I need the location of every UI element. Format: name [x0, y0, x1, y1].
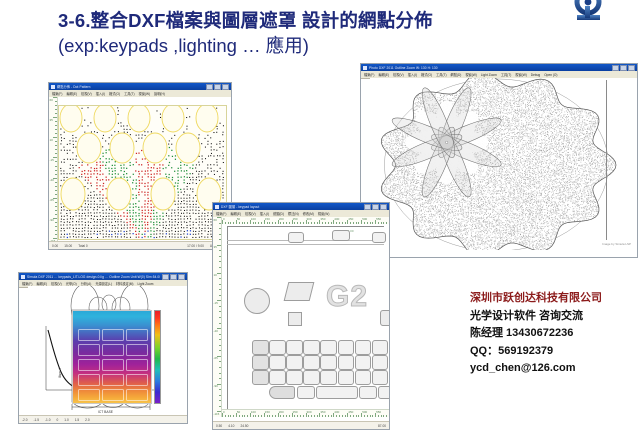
- status-field: 1.0: [64, 418, 68, 422]
- menu-item[interactable]: 插入(I): [408, 72, 417, 77]
- menu-item[interactable]: 檢視(V): [245, 211, 256, 216]
- minimize-icon[interactable]: [364, 204, 371, 210]
- keypad-key[interactable]: [320, 340, 337, 355]
- keypad-key[interactable]: [288, 232, 304, 243]
- close-icon[interactable]: [222, 84, 229, 90]
- dot-plot-canvas[interactable]: 603510-15-40-65-90-115: [49, 97, 231, 242]
- keypad-key[interactable]: [320, 355, 337, 370]
- contact-block: 深圳市跃创达科技有限公司 光学设计软件 咨询交流 陈经理 13430672236…: [470, 290, 635, 378]
- maximize-icon[interactable]: [620, 65, 627, 71]
- keypad-key[interactable]: [359, 386, 377, 399]
- window-buttons[interactable]: [612, 65, 635, 71]
- heatmap-key-outline: [78, 374, 100, 386]
- keypad-key[interactable]: [286, 355, 303, 370]
- keypad-key[interactable]: [372, 340, 389, 355]
- titlebar[interactable]: DXF 圖層 - keypad layout: [213, 203, 389, 210]
- dot-distribution-window[interactable]: 網點分佈 - Dot Pattern 檔案(F) 編輯(E) 檢視(V) 插入(…: [48, 82, 232, 250]
- keypad-key[interactable]: [378, 386, 389, 399]
- keypad-key[interactable]: [338, 340, 355, 355]
- menu-item[interactable]: 標註(N): [288, 211, 299, 216]
- status-field: -2.0: [22, 418, 28, 422]
- contact-qq: QQ：569192379: [470, 343, 635, 361]
- status-field: 1.5: [75, 418, 79, 422]
- menu-item[interactable]: 格式(O): [421, 72, 432, 77]
- heatmap-key-outline: [126, 389, 148, 401]
- x-axis-label: ICT BASE: [98, 410, 113, 414]
- status-field: 0: [57, 418, 59, 422]
- dot-field-canvas[interactable]: 603510-15-40-65-90-115 Image by Simula L…: [370, 78, 637, 250]
- status-field: 15.00: [64, 244, 72, 248]
- menu-item[interactable]: Light Zoom: [481, 73, 497, 77]
- page-title: 3-6.整合DXF檔案與圖層遮罩 設計的網點分佈 (exp:keypads ,l…: [58, 8, 488, 59]
- status-field: 0.00: [52, 244, 58, 248]
- minimize-icon[interactable]: [206, 84, 213, 90]
- close-icon[interactable]: [628, 65, 635, 71]
- window-buttons[interactable]: [364, 204, 387, 210]
- maximize-icon[interactable]: [214, 84, 221, 90]
- close-icon[interactable]: [178, 274, 185, 280]
- statusbar: 0.00 15.00 Total 0 17.00 / 9.00 Unknown …: [49, 241, 231, 249]
- app-icon: [21, 275, 25, 279]
- guide-horizontal-3: [227, 244, 384, 245]
- window-title: Photo DXF 2011 Outline Zoom W: 130 H: 13…: [369, 66, 610, 70]
- menu-item[interactable]: 編輯(E): [378, 72, 389, 77]
- heatmap-key-outline: [102, 389, 124, 401]
- titlebar[interactable]: 網點分佈 - Dot Pattern: [49, 83, 231, 90]
- menu-item[interactable]: 格式(O): [109, 91, 120, 96]
- menu-item[interactable]: 視窗(W): [465, 72, 477, 77]
- colorbar: [154, 310, 161, 404]
- menu-item[interactable]: 視窗(W): [515, 72, 527, 77]
- window-buttons[interactable]: [162, 274, 185, 280]
- illuminance-map[interactable]: [72, 310, 152, 404]
- keypad-key[interactable]: [372, 232, 386, 243]
- scalloped-dot-field: [370, 78, 637, 250]
- keypad-key[interactable]: [269, 370, 286, 385]
- keypad-key[interactable]: [252, 355, 269, 370]
- keypad-key[interactable]: [269, 386, 295, 399]
- field-divider: [606, 80, 607, 240]
- shape-key-extra[interactable]: [380, 310, 389, 326]
- menu-item[interactable]: 工具(T): [501, 72, 511, 77]
- shape-circle[interactable]: [244, 288, 270, 314]
- app-icon: [51, 85, 55, 89]
- status-field: Total 0: [78, 244, 87, 248]
- close-icon[interactable]: [380, 204, 387, 210]
- keypad-key[interactable]: [303, 340, 320, 355]
- heatmap-key-outline: [126, 344, 148, 356]
- heatmap-key-outline: [102, 359, 124, 371]
- minimize-icon[interactable]: [612, 65, 619, 71]
- maximize-icon[interactable]: [372, 204, 379, 210]
- keypad-key[interactable]: [316, 386, 358, 399]
- guide-horizontal: [227, 226, 384, 227]
- minimize-icon[interactable]: [162, 274, 169, 280]
- keypad-key[interactable]: [332, 230, 350, 241]
- keypad-key[interactable]: [355, 370, 372, 385]
- titlebar[interactable]: Simula DXF 2011 … keypads_LIT.LOG design…: [19, 273, 187, 280]
- keypad-key[interactable]: [252, 370, 269, 385]
- status-field: 17.00 / 9.00: [187, 244, 204, 248]
- menu-item[interactable]: Light Zoom: [138, 282, 154, 286]
- keypad-key[interactable]: [372, 355, 389, 370]
- contact-company: 深圳市跃创达科技有限公司: [470, 290, 635, 308]
- app-icon: [363, 66, 367, 70]
- status-field: 4.10: [228, 424, 234, 428]
- y-axis-label: Illum. Y: [58, 367, 62, 378]
- keypad-key[interactable]: [252, 340, 269, 355]
- status-field: 2.0: [85, 418, 89, 422]
- title-line-1: 3-6.整合DXF檔案與圖層遮罩 設計的網點分佈: [58, 8, 488, 33]
- menu-item[interactable]: 檔案(F): [364, 72, 374, 77]
- vertical-ruler: 603510-15-40-65-90-115: [49, 97, 58, 242]
- app-icon: [215, 205, 219, 209]
- menu-item[interactable]: 插入(I): [260, 211, 269, 216]
- cad-drawing-canvas[interactable]: 82.00 G2: [222, 224, 389, 417]
- keypad-key[interactable]: [286, 340, 303, 355]
- guide-horizontal-2: [227, 240, 384, 241]
- contact-service: 光学设计软件 咨询交流: [470, 308, 635, 326]
- field-caption: Image by Simula LSP: [602, 242, 631, 246]
- g2-logo-icon: [566, 0, 610, 32]
- keypad-key[interactable]: [338, 355, 355, 370]
- menu-item[interactable]: 視窗(W): [318, 211, 330, 216]
- contact-email: ycd_chen@126.com: [470, 360, 635, 378]
- keypad-key[interactable]: [269, 355, 286, 370]
- heatmap-key-outline: [126, 359, 148, 371]
- dot-field-window[interactable]: Photo DXF 2011 Outline Zoom W: 130 H: 13…: [360, 63, 638, 258]
- menu-item[interactable]: 檢視(V): [81, 91, 92, 96]
- guide-vertical: [227, 226, 228, 410]
- keypad-key[interactable]: [355, 355, 372, 370]
- heatmap-key-outline: [102, 329, 124, 341]
- slide-canvas: 3-6.整合DXF檔案與圖層遮罩 設計的網點分佈 (exp:keypads ,l…: [0, 0, 640, 447]
- heatmap-key-outline: [126, 374, 148, 386]
- menu-item[interactable]: Open (O): [544, 73, 557, 77]
- menu-item[interactable]: 修改(M): [303, 211, 314, 216]
- keypad-key[interactable]: [320, 370, 337, 385]
- menu-item[interactable]: 編輯(E): [230, 211, 241, 216]
- statusbar: 0.50 4.10 24.50 87.00: [213, 421, 389, 429]
- cad-watermark: G2: [326, 280, 368, 314]
- keypad-key[interactable]: [269, 340, 286, 355]
- menu-item[interactable]: 網點(D): [451, 72, 462, 77]
- menu-item[interactable]: Debug: [531, 73, 540, 77]
- vertical-ruler: 603510-15-40-65-90-115: [213, 217, 222, 417]
- keypad-key[interactable]: [338, 370, 355, 385]
- window-title: 網點分佈 - Dot Pattern: [57, 84, 204, 89]
- heatmap-canvas[interactable]: 603510-15-40-65-90-115 Illum. Y ICT BASE: [28, 286, 187, 417]
- dot-scatter-area[interactable]: [58, 105, 227, 240]
- illumination-heatmap-window[interactable]: Simula DXF 2011 … keypads_LIT.LOG design…: [18, 272, 188, 424]
- keypad-key[interactable]: [303, 370, 320, 385]
- keypad-key[interactable]: [286, 370, 303, 385]
- heatmap-key-outline: [78, 389, 100, 401]
- maximize-icon[interactable]: [170, 274, 177, 280]
- shape-parallelogram[interactable]: [284, 282, 315, 301]
- heatmap-key-outline: [78, 344, 100, 356]
- menu-item[interactable]: 插入(I): [96, 91, 105, 96]
- menu-item[interactable]: 檔案(F): [52, 91, 62, 96]
- heatmap-key-outline: [102, 344, 124, 356]
- heatmap-key-outline: [102, 374, 124, 386]
- menu-item[interactable]: 工具(T): [124, 91, 134, 96]
- window-title: Simula DXF 2011 … keypads_LIT.LOG design…: [27, 275, 160, 279]
- window-title: DXF 圖層 - keypad layout: [221, 204, 362, 209]
- window-buttons[interactable]: [206, 84, 229, 90]
- menu-item[interactable]: 檢視(V): [393, 72, 404, 77]
- menu-item[interactable]: 視窗(W): [139, 91, 151, 96]
- keypad-key[interactable]: [372, 370, 389, 385]
- status-field: 24.50: [240, 424, 248, 428]
- heatmap-key-outline: [78, 359, 100, 371]
- contact-person: 陈经理 13430672236: [470, 325, 635, 343]
- cad-keypad-window[interactable]: DXF 圖層 - keypad layout 檔案(F) 編輯(E) 檢視(V)…: [212, 202, 390, 430]
- keypad-key[interactable]: [355, 340, 372, 355]
- status-field: -1.5: [34, 418, 40, 422]
- keypad-key[interactable]: [297, 386, 315, 399]
- menu-item[interactable]: 編輯(E): [66, 91, 77, 96]
- status-field: 87.00: [378, 424, 386, 428]
- shape-square[interactable]: [288, 312, 302, 326]
- menu-item[interactable]: 說明(H): [154, 91, 165, 96]
- statusbar: -2.0 -1.5 -1.0 0 1.0 1.5 2.0: [19, 415, 187, 423]
- menu-item[interactable]: 檔案(F): [216, 211, 226, 216]
- heatmap-key-outline: [78, 329, 100, 341]
- horizontal-ruler-bottom: 050100150200250300350400450500550: [222, 409, 389, 417]
- status-field: -1.0: [45, 418, 51, 422]
- title-line-2: (exp:keypads ,lighting … 應用): [58, 33, 488, 59]
- keypad-key[interactable]: [303, 355, 320, 370]
- heatmap-key-outline: [126, 329, 148, 341]
- status-field: 0.50: [216, 424, 222, 428]
- menu-item[interactable]: 工具(T): [436, 72, 446, 77]
- titlebar[interactable]: Photo DXF 2011 Outline Zoom W: 130 H: 13…: [361, 64, 637, 71]
- menu-item[interactable]: 繪圖(D): [273, 211, 284, 216]
